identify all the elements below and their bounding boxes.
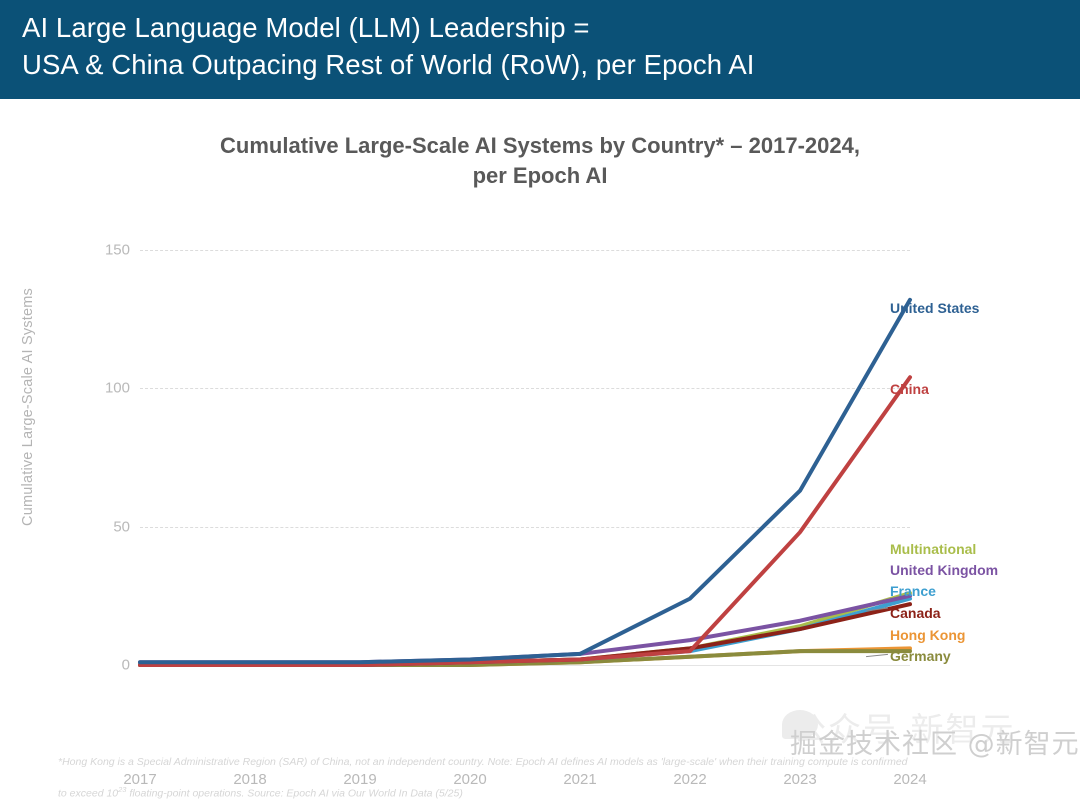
chart-container: Cumulative Large-Scale AI Systems by Cou… bbox=[0, 99, 1080, 776]
series-label-germany: Germany bbox=[890, 648, 951, 664]
slide: AI Large Language Model (LLM) Leadership… bbox=[0, 0, 1080, 776]
series-line-united-states bbox=[140, 300, 910, 662]
footnote-exponent: 23 bbox=[118, 785, 126, 794]
plot-area: Cumulative Large-Scale AI Systems 050100… bbox=[0, 99, 1080, 776]
series-label-canada: Canada bbox=[890, 605, 941, 621]
series-lines bbox=[0, 99, 1080, 776]
page-title: AI Large Language Model (LLM) Leadership… bbox=[22, 9, 1062, 83]
series-label-hong-kong: Hong Kong bbox=[890, 627, 965, 643]
series-label-multinational: Multinational bbox=[890, 541, 976, 557]
series-label-france: France bbox=[890, 583, 936, 599]
series-label-united-states: United States bbox=[890, 300, 979, 316]
series-label-united-kingdom: United Kingdom bbox=[890, 562, 998, 578]
footnote-line-1: *Hong Kong is a Special Administrative R… bbox=[58, 756, 908, 768]
footnote: *Hong Kong is a Special Administrative R… bbox=[58, 742, 1058, 801]
header-band: AI Large Language Model (LLM) Leadership… bbox=[0, 0, 1080, 99]
series-label-china: China bbox=[890, 381, 929, 397]
footnote-line-2-suffix: floating-point operations. Source: Epoch… bbox=[126, 787, 462, 799]
footnote-line-2-prefix: to exceed 10 bbox=[58, 787, 118, 799]
